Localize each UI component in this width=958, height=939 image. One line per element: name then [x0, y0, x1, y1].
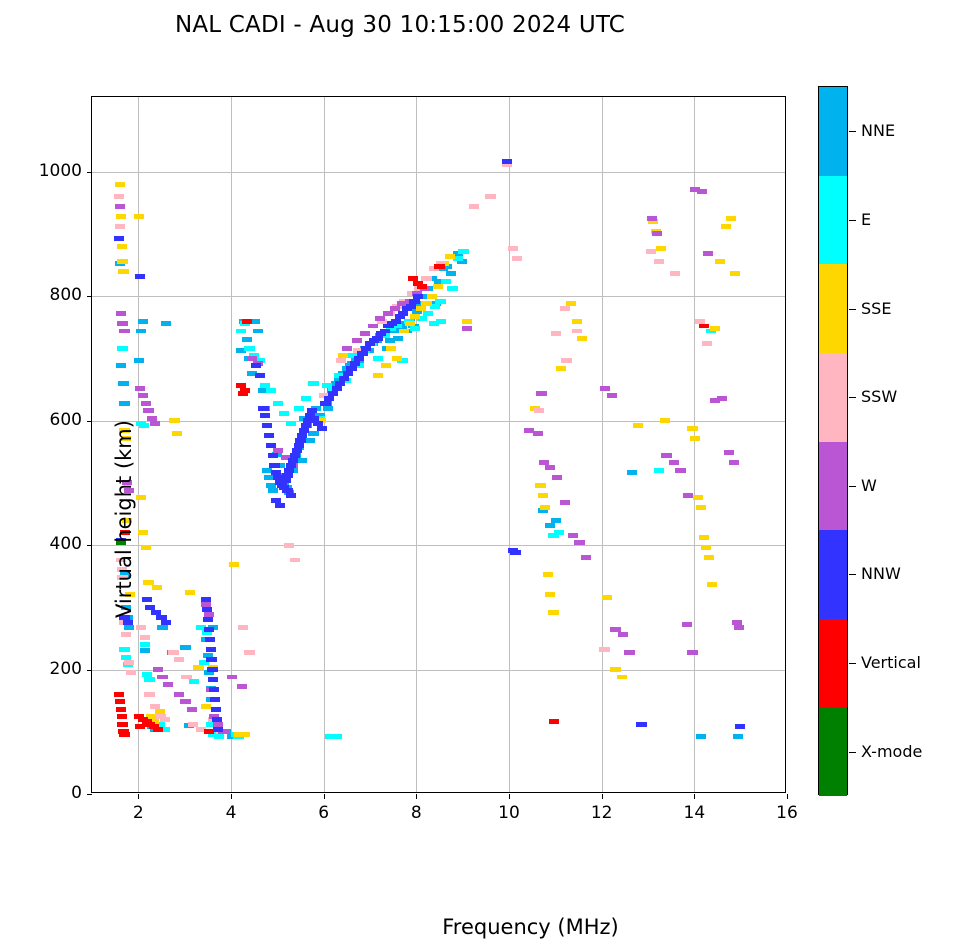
scatter-point [652, 231, 662, 236]
scatter-point [548, 610, 558, 615]
scatter-point [386, 346, 396, 351]
scatter-point [174, 657, 184, 662]
scatter-point [734, 625, 744, 630]
scatter-point [540, 505, 550, 510]
scatter-point [661, 453, 671, 458]
scatter-point [690, 436, 700, 441]
scatter-point [117, 321, 127, 326]
scatter-point [262, 423, 272, 428]
scatter-point [240, 732, 250, 737]
scatter-point [462, 319, 472, 324]
scatter-point [617, 675, 627, 680]
scatter-point [543, 572, 553, 577]
scatter-point [660, 418, 670, 423]
scatter-point [268, 488, 278, 493]
scatter-point [618, 632, 628, 637]
scatter-point [308, 381, 318, 386]
scatter-point [229, 562, 239, 567]
scatter-point [126, 670, 136, 675]
scatter-point [207, 667, 217, 672]
scatter-point [142, 597, 152, 602]
colorbar-label-vertical: Vertical [861, 653, 921, 672]
scatter-point [717, 396, 727, 401]
scatter-point [599, 647, 609, 652]
scatter-point [292, 448, 302, 453]
scatter-point [729, 460, 739, 465]
scatter-point [153, 667, 163, 672]
scatter-point [656, 246, 666, 251]
scatter-point [204, 627, 214, 632]
scatter-point [135, 274, 145, 279]
scatter-point [244, 346, 254, 351]
scatter-point [435, 299, 445, 304]
scatter-point [416, 306, 426, 311]
x-tick [138, 794, 139, 799]
scatter-point [398, 311, 408, 316]
x-tick [231, 794, 232, 799]
y-tick-label: 400 [2, 534, 82, 554]
scatter-point [172, 431, 182, 436]
scatter-point [682, 622, 692, 627]
scatter-point [301, 396, 311, 401]
scatter-point [669, 460, 679, 465]
scatter-point [703, 251, 713, 256]
scatter-point [253, 329, 263, 334]
x-tick [509, 794, 510, 799]
y-axis-title: Virtual height (km) [112, 369, 136, 669]
colorbar-tick [849, 752, 856, 753]
scatter-point [675, 468, 685, 473]
scatter-point [240, 388, 250, 393]
scatter-point [193, 665, 203, 670]
scatter-point [600, 386, 610, 391]
scatter-point [116, 363, 126, 368]
scatter-point [536, 391, 546, 396]
chart-title: NAL CADI - Aug 30 10:15:00 2024 UTC [0, 12, 800, 38]
scatter-point [294, 443, 304, 448]
scatter-point [545, 523, 555, 528]
scatter-point [336, 358, 346, 363]
scatter-point [721, 224, 731, 229]
scatter-point [552, 475, 562, 480]
scatter-point [242, 337, 252, 342]
scatter-point [409, 299, 419, 304]
scatter-point [320, 401, 330, 406]
scatter-point [534, 408, 544, 413]
scatter-point [391, 319, 401, 324]
scatter-point [352, 338, 362, 343]
scatter-point [169, 418, 179, 423]
y-tick [87, 794, 92, 795]
scatter-point [140, 642, 150, 647]
scatter-point [538, 493, 548, 498]
scatter-point [185, 590, 195, 595]
scatter-point [561, 358, 571, 363]
scatter-point [361, 346, 371, 351]
scatter-point [238, 625, 248, 630]
scatter-point [610, 667, 620, 672]
scatter-point [699, 324, 709, 329]
scatter-point [284, 468, 294, 473]
scatter-point [572, 329, 582, 334]
scatter-point [339, 376, 349, 381]
scatter-point [324, 396, 334, 401]
scatter-point [115, 699, 125, 704]
scatter-point [577, 336, 587, 341]
scatter-point [654, 468, 664, 473]
x-tick-label: 10 [479, 803, 539, 823]
scatter-point [206, 647, 216, 652]
scatter-point [510, 550, 520, 555]
scatter-point [704, 555, 714, 560]
scatter-point [266, 388, 276, 393]
colorbar-tick [849, 309, 856, 310]
scatter-point [697, 189, 707, 194]
scatter-point [342, 346, 352, 351]
x-tick [416, 794, 417, 799]
scatter-point [633, 423, 643, 428]
scatter-point [114, 236, 124, 241]
scatter-point [153, 727, 163, 732]
scatter-point [636, 722, 646, 727]
scatter-point [702, 341, 712, 346]
colorbar-label-e: E [861, 210, 871, 229]
x-tick-label: 8 [386, 803, 446, 823]
scatter-point [290, 453, 300, 458]
y-tick [87, 421, 92, 422]
x-tick [694, 794, 695, 799]
scatter-point [305, 438, 315, 443]
scatter-point [116, 707, 126, 712]
scatter-point [144, 692, 154, 697]
scatter-point [328, 391, 338, 396]
x-tick [787, 794, 788, 799]
scatter-point [687, 650, 697, 655]
colorbar-tick [849, 486, 856, 487]
scatter-point [508, 246, 518, 251]
scatter-point [307, 408, 317, 413]
scatter-point [117, 244, 127, 249]
colorbar-tick [849, 397, 856, 398]
y-tick [87, 545, 92, 546]
scatter-point [683, 493, 693, 498]
scatter-point [141, 401, 151, 406]
scatter-point [211, 707, 221, 712]
scatter-point [140, 648, 150, 653]
scatter-point [135, 386, 145, 391]
scatter-point [205, 637, 215, 642]
scatter-point [670, 271, 680, 276]
scatter-point [160, 717, 170, 722]
scatter-point [512, 256, 522, 261]
x-tick-label: 4 [201, 803, 261, 823]
scatter-point [201, 597, 211, 602]
scatter-point [551, 331, 561, 336]
scatter-point [735, 724, 745, 729]
scatter-point [560, 306, 570, 311]
plot-area: 24681012141602004006008001000 Frequency … [91, 96, 786, 793]
x-tick [602, 794, 603, 799]
scatter-point [715, 259, 725, 264]
scatter-point [699, 535, 709, 540]
scatter-point [568, 533, 578, 538]
scatter-point [139, 423, 149, 428]
scatter-point [117, 346, 127, 351]
scatter-point [180, 699, 190, 704]
scatter-point [269, 463, 279, 468]
scatter-point [286, 493, 296, 498]
scatter-point [244, 650, 254, 655]
scatter-point [446, 271, 456, 276]
scatter-point [213, 727, 223, 732]
scatter-point [116, 214, 126, 219]
scatter-point [726, 216, 736, 221]
scatter-point [383, 311, 393, 316]
scatter-point [150, 704, 160, 709]
scatter-point [335, 381, 345, 386]
scatter-point [301, 423, 311, 428]
scatter-point [372, 336, 382, 341]
colorbar-tick [849, 663, 856, 664]
y-tick [87, 296, 92, 297]
scatter-point [332, 386, 342, 391]
y-tick-label: 0 [2, 783, 82, 803]
scatter-point [393, 336, 403, 341]
scatter-point [627, 470, 637, 475]
scatter-point [533, 431, 543, 436]
scatter-point [687, 426, 697, 431]
scatter-point [572, 319, 582, 324]
scatter-point [462, 326, 472, 331]
colorbar-tick [849, 131, 856, 132]
scatter-point [279, 411, 289, 416]
scatter-point [423, 311, 433, 316]
scatter-point [135, 724, 145, 729]
scatter-point [427, 294, 437, 299]
scatter-point [144, 677, 154, 682]
scatter-point [275, 503, 285, 508]
scatter-point [406, 304, 416, 309]
scatter-point [138, 319, 148, 324]
x-tick-label: 12 [572, 803, 632, 823]
scatter-point [485, 194, 495, 199]
scatter-point [227, 675, 237, 680]
scatter-point [469, 204, 479, 209]
scatter-point [602, 595, 612, 600]
scatter-point [357, 351, 367, 356]
scatter-point [161, 321, 171, 326]
y-tick [87, 172, 92, 173]
colorbar-tick [849, 574, 856, 575]
scatter-point [295, 438, 305, 443]
scatter-point [290, 558, 300, 563]
scatter-point [297, 433, 307, 438]
scatter-point [251, 363, 261, 368]
scatter-point [392, 356, 402, 361]
scatter-point [317, 426, 327, 431]
scatter-point [405, 321, 415, 326]
scatter-point [360, 331, 370, 336]
scatter-point [354, 356, 364, 361]
colorbar-segment-ssw [819, 353, 847, 442]
scatter-point [206, 657, 216, 662]
scatter-point [150, 421, 160, 426]
scatter-point [445, 254, 455, 259]
x-axis-title: Frequency (MHz) [183, 915, 878, 939]
colorbar-segment-e [819, 176, 847, 265]
scatter-point [343, 371, 353, 376]
scatter-point [136, 625, 146, 630]
scatter-point [114, 194, 124, 199]
scatter-point [161, 620, 171, 625]
colorbar-segment-vertical [819, 619, 847, 708]
y-tick-label: 600 [2, 410, 82, 430]
scatter-point [375, 316, 385, 321]
scatter-point [212, 717, 222, 722]
scatter-point [204, 729, 214, 734]
scatter-point [114, 692, 124, 697]
scatter-point [134, 214, 144, 219]
scatter-point [273, 401, 283, 406]
scatter-point [264, 433, 274, 438]
x-tick-label: 16 [757, 803, 817, 823]
scatter-point [255, 373, 265, 378]
scatter-point [299, 428, 309, 433]
scatter-point [581, 555, 591, 560]
scatter-point [458, 249, 468, 254]
scatter-point [138, 393, 148, 398]
scatter-point [115, 182, 125, 187]
scatter-point [117, 722, 127, 727]
scatter-point [242, 319, 252, 324]
scatter-point [201, 704, 211, 709]
scatter-point [214, 734, 224, 739]
scatter-point [399, 329, 409, 334]
scatter-point [554, 530, 564, 535]
scatter-point [410, 314, 420, 319]
colorbar-label-x-mode: X-mode [861, 742, 922, 761]
scatter-point [174, 692, 184, 697]
y-tick-label: 800 [2, 285, 82, 305]
scatter-point [332, 734, 342, 739]
scatter-point [502, 159, 512, 164]
colorbar-segment-x-mode [819, 707, 847, 796]
scatter-point [236, 329, 246, 334]
scatter-point [373, 373, 383, 378]
scatter-point [447, 286, 457, 291]
y-tick-label: 1000 [2, 161, 82, 181]
x-tick-label: 2 [108, 803, 168, 823]
scatter-point [141, 545, 151, 550]
scatter-point [693, 495, 703, 500]
scatter-point [294, 406, 304, 411]
scatter-point [260, 413, 270, 418]
scatter-point [115, 224, 125, 229]
scatter-point [168, 650, 178, 655]
scatter-point [373, 356, 383, 361]
scatter-point [733, 734, 743, 739]
scatter-point [381, 363, 391, 368]
scatter-point [208, 677, 218, 682]
scatter-point [180, 645, 190, 650]
scatter-point [115, 204, 125, 209]
scatter-point [730, 271, 740, 276]
scatter-point [189, 679, 199, 684]
colorbar-label-nnw: NNW [861, 564, 901, 583]
scatter-point [157, 625, 167, 630]
scatter-point [210, 697, 220, 702]
scatter-point [433, 284, 443, 289]
scatter-point [346, 366, 356, 371]
scatter-point [116, 311, 126, 316]
scatter-point [288, 458, 298, 463]
x-tick-label: 14 [664, 803, 724, 823]
scatter-point [707, 582, 717, 587]
scatter-point [202, 607, 212, 612]
colorbar-tick [849, 220, 856, 221]
scatter-point [607, 393, 617, 398]
scatter-point [143, 408, 153, 413]
scatter-point [624, 650, 634, 655]
scatter-point [286, 421, 296, 426]
scatter-point [203, 617, 213, 622]
scatter-point [368, 324, 378, 329]
scatter-point [281, 478, 291, 483]
scatter-point [157, 675, 167, 680]
scatter-point [654, 259, 664, 264]
scatter-point [696, 734, 706, 739]
scatter-point [436, 319, 446, 324]
scatter-point [413, 294, 423, 299]
scatter-point [163, 682, 173, 687]
y-tick-label: 200 [2, 659, 82, 679]
scatter-point [308, 431, 318, 436]
colorbar-label-nne: NNE [861, 121, 895, 140]
scatter-point [286, 463, 296, 468]
scatter-point [140, 635, 150, 640]
scatter-point [560, 500, 570, 505]
scatter-point [119, 732, 129, 737]
scatter-point [187, 707, 197, 712]
scatter-point [282, 473, 292, 478]
scatter-point [266, 443, 276, 448]
scatter-point [421, 301, 431, 306]
scatter-point [152, 585, 162, 590]
scatter-point [119, 329, 129, 334]
scatter-point [209, 687, 219, 692]
colorbar-segment-nne [819, 87, 847, 176]
colorbar-label-w: W [861, 476, 877, 495]
y-tick [87, 670, 92, 671]
scatter-point [549, 719, 559, 724]
scatter-point [134, 358, 144, 363]
colorbar-label-sse: SSE [861, 299, 891, 318]
scatter-point [434, 264, 444, 269]
scatter-points-layer [92, 97, 785, 792]
scatter-point [535, 483, 545, 488]
scatter-point [724, 450, 734, 455]
scatter-point [258, 406, 268, 411]
scatter-point [701, 545, 711, 550]
scatter-point [647, 216, 657, 221]
colorbar-segment-nnw [819, 530, 847, 619]
colorbar-segment-sse [819, 264, 847, 353]
scatter-point [284, 543, 294, 548]
colorbar-label-ssw: SSW [861, 387, 897, 406]
colorbar-segment-w [819, 442, 847, 531]
scatter-point [556, 366, 566, 371]
scatter-point [417, 284, 427, 289]
